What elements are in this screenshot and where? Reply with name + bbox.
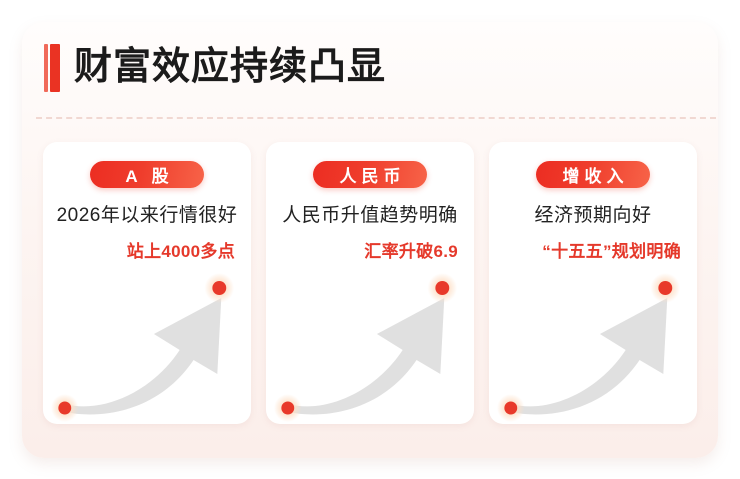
header: 财富效应持续凸显 <box>22 22 718 118</box>
accent-strip-thick <box>50 44 60 92</box>
card-list: A 股 2026年以来行情很好 站上4000多点 <box>43 142 697 424</box>
card-headline: 人民币升值趋势明确 <box>266 200 474 227</box>
accent-strip-thin <box>44 44 48 92</box>
card-a-shares[interactable]: A 股 2026年以来行情很好 站上4000多点 <box>43 142 251 424</box>
infographic-root: 财富效应持续凸显 A 股 2026年以来行情很好 站上4000多点 <box>0 0 740 479</box>
badge-container: 人民币 <box>266 161 474 188</box>
growth-arrow-icon <box>43 264 251 424</box>
card-highlight: “十五五”规划明确 <box>489 237 697 262</box>
growth-arrow-icon <box>489 264 697 424</box>
page-title: 财富效应持续凸显 <box>74 38 386 96</box>
card-rmb[interactable]: 人民币 人民币升值趋势明确 汇率升破6.9 <box>266 142 474 424</box>
card-headline: 2026年以来行情很好 <box>43 200 251 227</box>
main-panel: 财富效应持续凸显 A 股 2026年以来行情很好 站上4000多点 <box>22 22 718 458</box>
card-highlight: 汇率升破6.9 <box>266 237 474 262</box>
badge-container: 增收入 <box>489 161 697 188</box>
card-headline: 经济预期向好 <box>489 200 697 227</box>
card-income[interactable]: 增收入 经济预期向好 “十五五”规划明确 <box>489 142 697 424</box>
title-accent-bar-icon <box>44 44 61 92</box>
card-badge: 增收入 <box>536 161 650 188</box>
card-highlight: 站上4000多点 <box>43 237 251 262</box>
header-divider <box>36 117 716 119</box>
badge-container: A 股 <box>43 161 251 188</box>
card-badge: A 股 <box>90 161 204 188</box>
growth-arrow-icon <box>266 264 474 424</box>
card-badge: 人民币 <box>313 161 427 188</box>
